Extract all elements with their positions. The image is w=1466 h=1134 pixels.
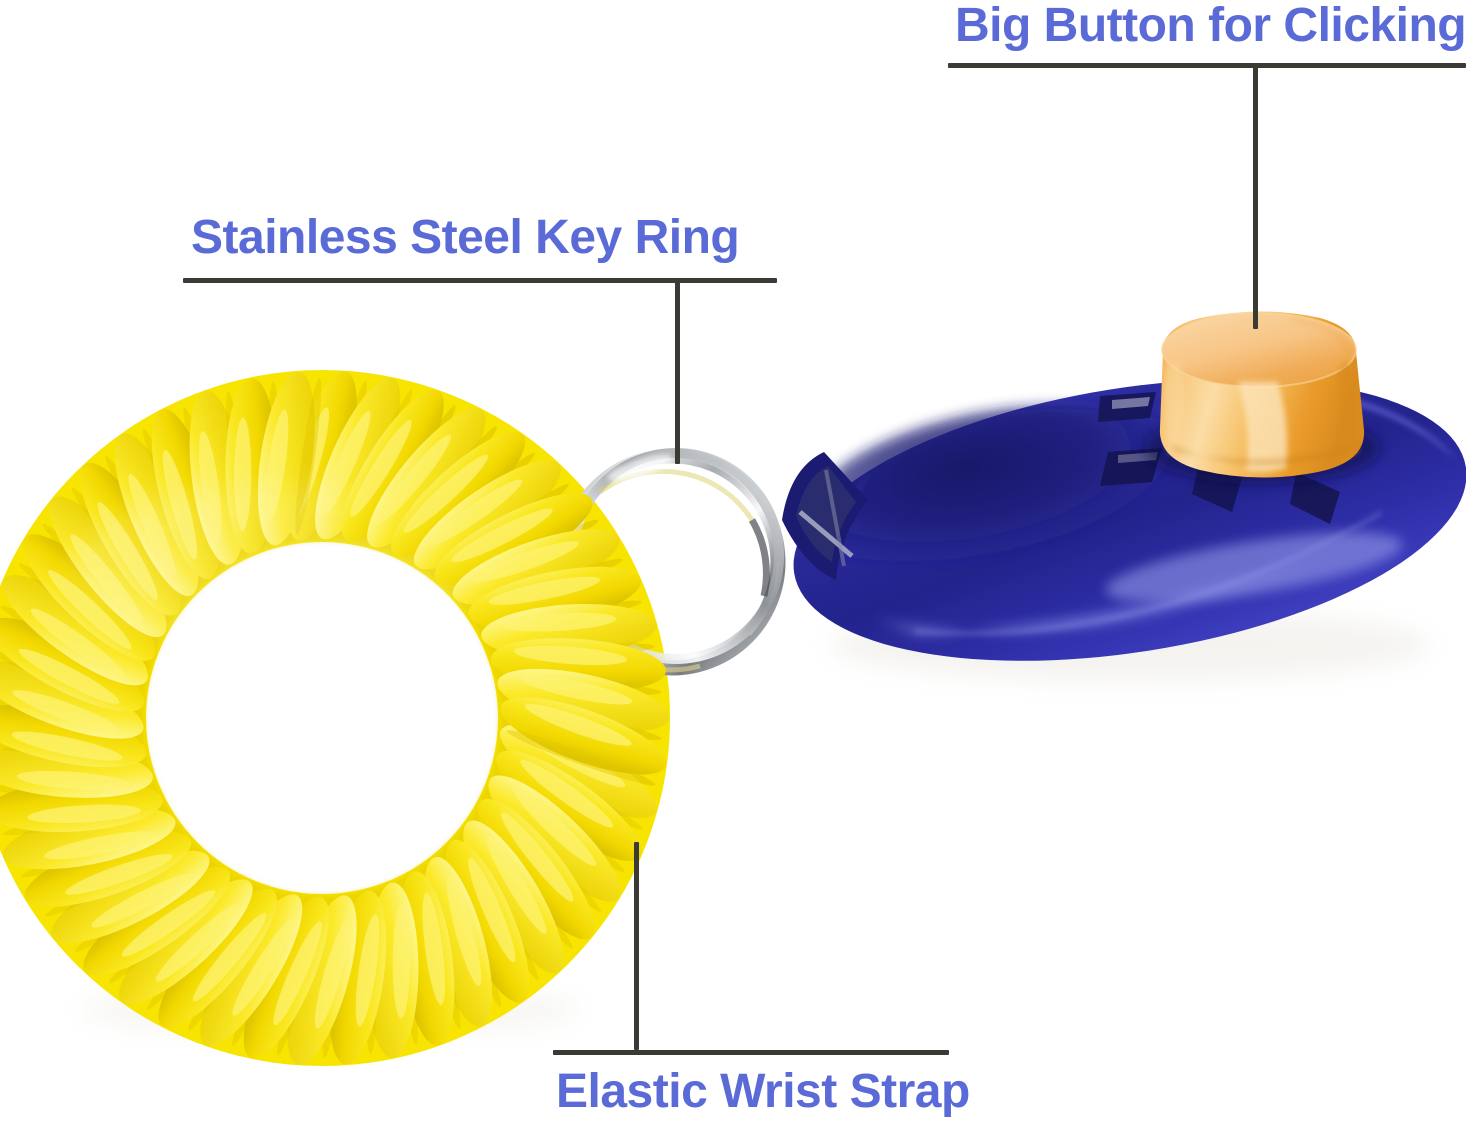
callout-label-key-ring: Stainless Steel Key Ring (191, 214, 739, 262)
leader-stem-wrist-strap (634, 842, 639, 1050)
callout-label-wrist-strap: Elastic Wrist Strap (556, 1068, 970, 1116)
clicker-button-art (1144, 312, 1380, 485)
callout-label-big-button: Big Button for Clicking (955, 2, 1466, 50)
leader-rule-key-ring (183, 278, 777, 283)
product-annotation-image: Big Button for Clicking Stainless Steel … (0, 0, 1466, 1134)
product-illustration (0, 0, 1466, 1134)
leader-stem-key-ring (675, 278, 680, 464)
leader-rule-wrist-strap (553, 1050, 949, 1055)
leader-stem-big-button (1253, 63, 1258, 329)
clicker-body-art (774, 336, 1466, 703)
leader-rule-big-button (948, 63, 1466, 68)
